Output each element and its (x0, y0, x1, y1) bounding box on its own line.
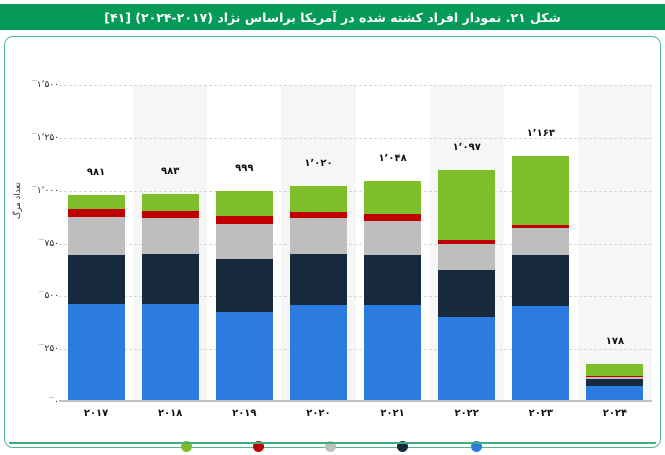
y-tick-label: ۱٬۲۵۰ (37, 133, 59, 143)
stacked-bar[interactable]: ۱٬۰۹۷ (438, 170, 495, 402)
y-tick-mark (39, 291, 44, 292)
y-tick-label: ۰ (54, 397, 59, 407)
bar-segment[interactable] (142, 304, 199, 402)
bar-segment[interactable] (290, 186, 347, 211)
y-tick-label: ۵۰۰ (44, 291, 59, 301)
chart-card: تعداد مرگ ۹۸۱۹۸۳۹۹۹۱٬۰۲۰۱٬۰۴۸۱٬۰۹۷۱٬۱۶۳۱… (4, 36, 661, 448)
bar-segment[interactable] (68, 195, 125, 209)
bar-value-label: ۱٬۰۲۰ (304, 158, 332, 172)
stacked-bar[interactable]: ۱٬۰۲۰ (290, 186, 347, 402)
x-axis-line (59, 400, 652, 402)
bar-value-label: ۹۸۱ (87, 167, 105, 181)
bar-segment[interactable] (512, 156, 569, 224)
bar-segment[interactable] (290, 305, 347, 402)
bar-segment[interactable] (142, 254, 199, 304)
y-tick-mark (32, 133, 37, 134)
bar-segment[interactable] (364, 221, 421, 255)
x-tick-label: ۲۰۲۰ (306, 408, 330, 419)
stacked-bar[interactable]: ۱۷۸ (586, 364, 643, 402)
bar-segment[interactable] (512, 228, 569, 254)
bottom-divider (9, 442, 656, 444)
bar-value-label: ۹۹۹ (235, 163, 253, 177)
y-tick-label: ۷۵۰ (44, 239, 59, 249)
bar-segment[interactable] (68, 209, 125, 217)
x-tick-label: ۲۰۲۴ (603, 408, 627, 419)
bar-segment[interactable] (586, 364, 643, 375)
page-title: شکل ۲۱. نمودار افراد کشته شده در آمریکا … (104, 10, 561, 25)
bar-value-label: ۱٬۱۶۳ (527, 128, 555, 142)
bar-segment[interactable] (68, 255, 125, 304)
y-tick-mark (32, 186, 37, 187)
gridline (59, 85, 652, 86)
bar-segment[interactable] (216, 259, 273, 312)
x-tick-label: ۲۰۱۸ (158, 408, 182, 419)
bar-segment[interactable] (438, 317, 495, 402)
stacked-bar[interactable]: ۱٬۰۴۸ (364, 181, 421, 402)
y-tick-mark (39, 344, 44, 345)
bar-segment[interactable] (364, 181, 421, 214)
bar-value-label: ۱٬۰۹۷ (453, 142, 481, 156)
bar-segment[interactable] (68, 217, 125, 255)
y-tick-mark (32, 80, 37, 81)
chart-page: شکل ۲۱. نمودار افراد کشته شده در آمریکا … (0, 0, 665, 455)
bar-segment[interactable] (438, 170, 495, 240)
x-tick-label: ۲۰۱۷ (84, 408, 108, 419)
bar-segment[interactable] (290, 218, 347, 254)
bar-segment[interactable] (142, 218, 199, 254)
bar-segment[interactable] (216, 216, 273, 224)
gridline (59, 138, 652, 139)
y-tick-label: ۲۵۰ (44, 344, 59, 354)
bar-segment[interactable] (512, 255, 569, 307)
bar-segment[interactable] (290, 212, 347, 219)
x-tick-label: ۲۰۲۱ (380, 408, 404, 419)
bar-segment[interactable] (142, 194, 199, 211)
y-tick-mark (39, 239, 44, 240)
y-tick-label: ۱٬۵۰۰ (37, 80, 59, 90)
plot-area: ۹۸۱۹۸۳۹۹۹۱٬۰۲۰۱٬۰۴۸۱٬۰۹۷۱٬۱۶۳۱۷۸ (59, 85, 652, 402)
bar-segment[interactable] (586, 379, 643, 386)
bar-value-label: ۱۷۸ (606, 336, 624, 350)
bar-segment[interactable] (216, 191, 273, 216)
bar-segment[interactable] (68, 304, 125, 402)
y-tick-label: ۱٬۰۰۰ (37, 186, 59, 196)
x-tick-label: ۲۰۲۲ (454, 408, 478, 419)
stacked-bar[interactable]: ۹۸۳ (142, 194, 199, 402)
bar-segment[interactable] (364, 214, 421, 221)
x-tick-label: ۲۰۱۹ (232, 408, 256, 419)
bar-segment[interactable] (216, 224, 273, 259)
y-axis-title: تعداد مرگ (13, 182, 23, 219)
stacked-bar[interactable]: ۱٬۱۶۳ (512, 156, 569, 402)
bar-segment[interactable] (512, 306, 569, 402)
bar-segment[interactable] (364, 305, 421, 402)
bar-segment[interactable] (290, 254, 347, 305)
bar-segment[interactable] (438, 270, 495, 318)
bar-value-label: ۹۸۳ (161, 166, 179, 180)
bar-segment[interactable] (142, 211, 199, 218)
stacked-bar[interactable]: ۹۸۱ (68, 195, 125, 402)
bar-segment[interactable] (216, 312, 273, 402)
bar-value-label: ۱٬۰۴۸ (378, 153, 406, 167)
bar-segment[interactable] (364, 255, 421, 305)
bar-segment[interactable] (438, 244, 495, 270)
x-tick-label: ۲۰۲۳ (529, 408, 553, 419)
title-band: شکل ۲۱. نمودار افراد کشته شده در آمریکا … (0, 4, 665, 30)
stacked-bar[interactable]: ۹۹۹ (216, 191, 273, 402)
y-tick-mark (49, 397, 54, 398)
